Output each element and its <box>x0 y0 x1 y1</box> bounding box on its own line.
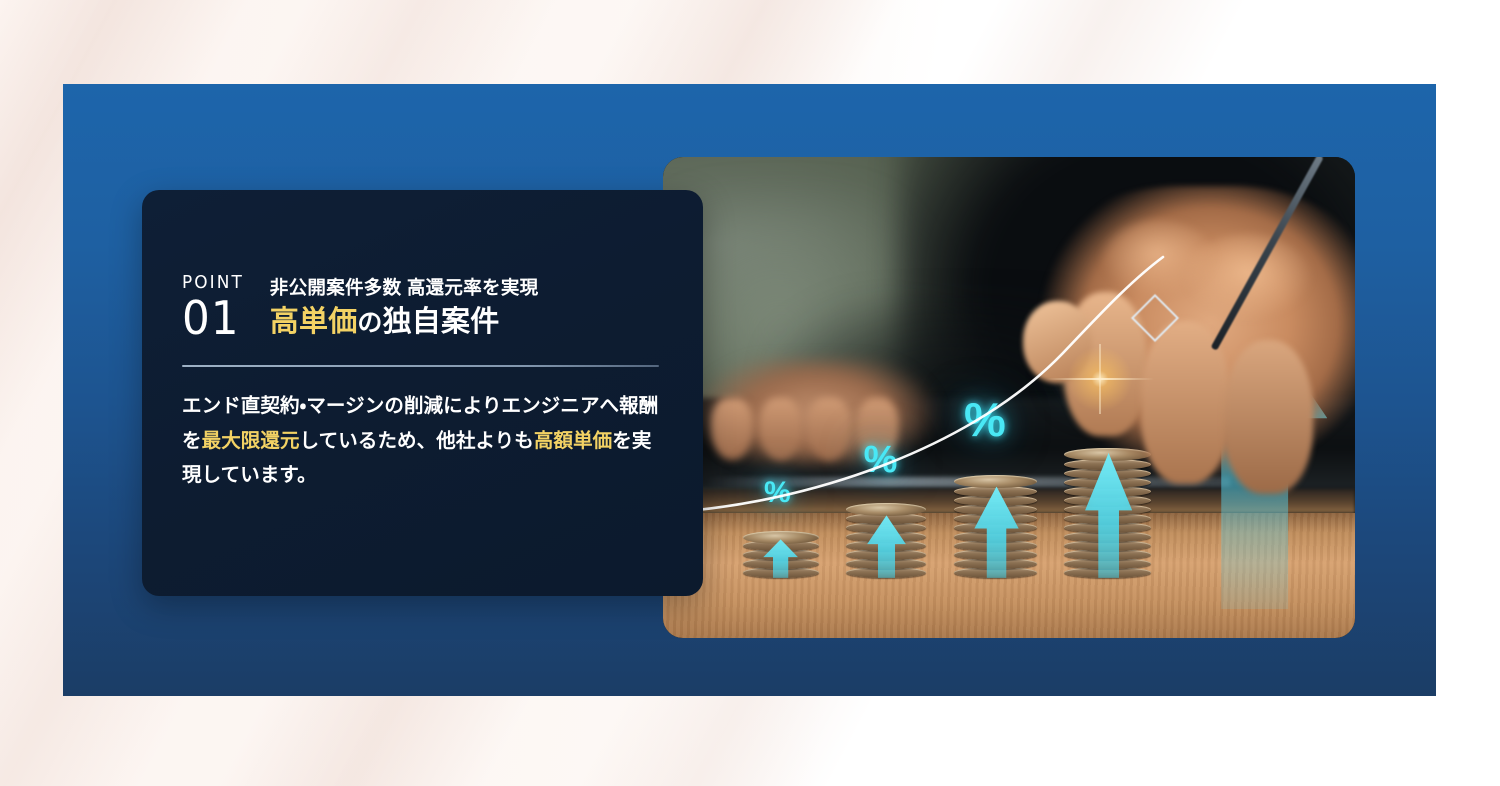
point-eyebrow: 非公開案件多数 高還元率を実現 <box>270 277 659 299</box>
desc-line2-highlight: 最大限還元 <box>202 430 300 452</box>
point-number: 01 <box>182 295 245 342</box>
point-description: エンド直契約・マージンの削減によりエンジニアへ報酬を最大限還元しているため、他社… <box>182 389 659 493</box>
point-headline: 高単価の独自案件 <box>270 304 659 341</box>
point-badge: POINT 01 <box>182 274 248 344</box>
headline-rest: 独自案件 <box>383 306 500 338</box>
desc-line2-b: しているため、 <box>300 430 437 452</box>
lens-flare-glint <box>1063 342 1137 416</box>
desc-line3-a: 他社よりも <box>436 430 534 452</box>
growth-curve-line <box>663 157 1355 638</box>
card-divider <box>182 365 659 367</box>
hero-photo: % % % % <box>663 157 1355 638</box>
point-card-content: POINT 01 非公開案件多数 高還元率を実現 高単価の独自案件 エンド直契約… <box>142 190 703 493</box>
photo-inner: % % % % <box>663 157 1355 638</box>
point-label: POINT <box>182 274 244 292</box>
point-card-header: POINT 01 非公開案件多数 高還元率を実現 高単価の独自案件 <box>182 274 659 344</box>
desc-line1: エンド直契約・マージンの削減によりエンジ <box>182 395 560 417</box>
desc-line3-highlight: 高額単価 <box>534 430 612 452</box>
point-banner: % % % % POINT 01 <box>63 84 1436 696</box>
headline-connector: の <box>357 309 382 337</box>
point-title-block: 非公開案件多数 高還元率を実現 高単価の独自案件 <box>270 277 659 344</box>
point-card: POINT 01 非公開案件多数 高還元率を実現 高単価の独自案件 エンド直契約… <box>142 190 703 596</box>
headline-gold-lead: 高単価 <box>270 306 358 338</box>
